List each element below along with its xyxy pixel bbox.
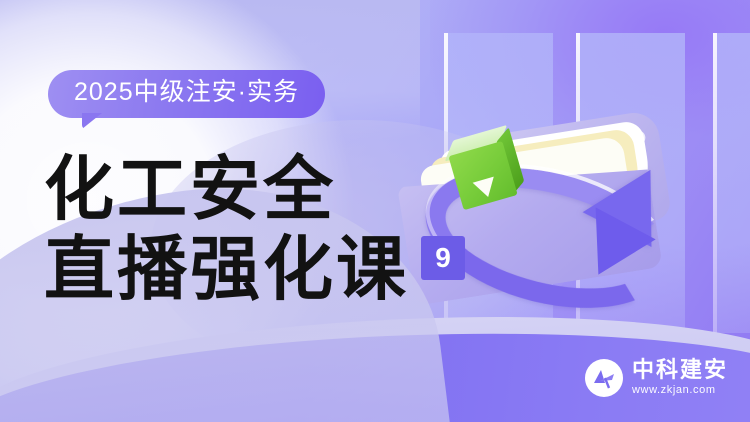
course-category-label: 2025中级注安·实务 <box>74 78 299 106</box>
course-category-badge: 2025中级注安·实务 <box>48 70 325 118</box>
title-line-two: 直播强化课9 <box>44 232 464 308</box>
logo-website-url: www.zkjan.com <box>632 382 728 399</box>
play-triangle-icon <box>473 177 499 200</box>
course-promo-banner: 2025中级注安·实务 化工安全 直播强化课9 中科建安 www.zkj <box>0 0 750 422</box>
episode-number-badge: 9 <box>421 236 465 280</box>
title-line-one-text: 化工安全 <box>44 150 336 228</box>
text-content: 2025中级注安·实务 化工安全 直播强化课9 <box>0 0 470 422</box>
logo-text-block: 中科建安 www.zkjan.com <box>632 358 728 398</box>
title-line-two-text: 直播强化课 <box>44 230 409 308</box>
title-line-one: 化工安全 <box>44 152 464 228</box>
logo-mark-icon <box>585 359 623 397</box>
logo-company-name: 中科建安 <box>632 358 728 381</box>
badge-tail <box>82 113 102 129</box>
page-title: 化工安全 直播强化课9 <box>44 152 464 307</box>
brand-logo[interactable]: 中科建安 www.zkjan.com <box>585 358 728 398</box>
